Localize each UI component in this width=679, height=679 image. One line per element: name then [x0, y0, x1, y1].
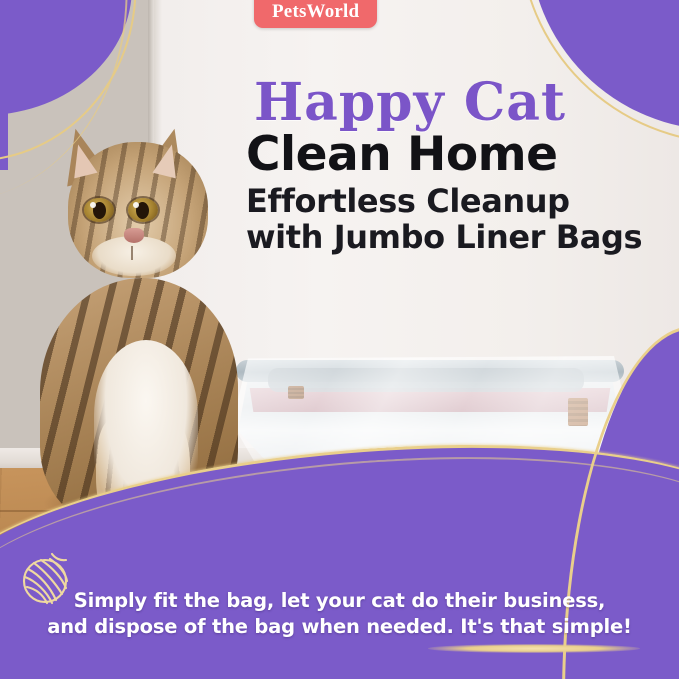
poster-canvas: PetsWorld Happy Cat Clean Home Effortles…	[0, 0, 679, 679]
subheadline-line-2: with Jumbo Liner Bags	[246, 220, 670, 256]
bottom-caption: Simply fit the bag, let your cat do thei…	[0, 588, 679, 639]
cat-nose	[124, 228, 144, 243]
brand-logo-badge[interactable]: PetsWorld	[254, 0, 377, 28]
headline-line-happy-cat: Happy Cat	[254, 78, 670, 129]
cat-eye-glint-left	[90, 202, 96, 208]
caption-line-2: and dispose of the bag when needed. It's…	[0, 614, 679, 640]
headline-block: Happy Cat Clean Home Effortless Cleanup …	[246, 78, 670, 256]
cat-eye-glint-right	[133, 202, 139, 208]
caption-line-1: Simply fit the bag, let your cat do thei…	[0, 588, 679, 614]
cat-mouth	[131, 246, 139, 260]
subheadline-line-1: Effortless Cleanup	[246, 184, 670, 220]
headline-line-clean-home: Clean Home	[246, 131, 670, 178]
caption-underline-swoosh	[428, 644, 640, 653]
